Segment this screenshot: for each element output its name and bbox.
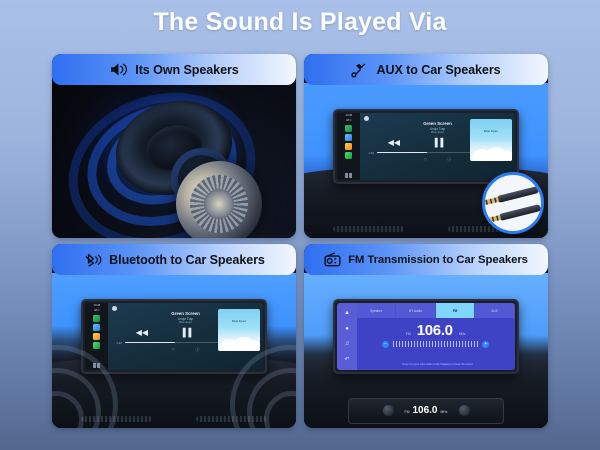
elapsed-time: 1:20	[368, 151, 373, 155]
car-dashboard-bluetooth: 10:38 48 C Green Screen Unqiz Trap	[52, 273, 296, 428]
tab-fm[interactable]: FM	[436, 303, 475, 318]
panel-header-own-speakers: Its Own Speakers	[52, 54, 296, 85]
air-vent-right	[196, 416, 267, 422]
panel-header-aux: AUX to Car Speakers	[304, 54, 548, 85]
status-sub: 48 C	[346, 120, 351, 123]
frequency-value: 106.0	[417, 323, 453, 338]
app-grid-icon[interactable]	[93, 363, 101, 368]
album-art-label: Blue Eyes	[470, 129, 512, 133]
more-button[interactable]: ⓘ	[195, 347, 199, 353]
bluetooth-waves-icon	[83, 252, 102, 268]
radio-frequency-unit: MHz	[440, 410, 447, 414]
previous-button[interactable]: ◀◀	[388, 139, 400, 147]
back-icon[interactable]: ↶	[345, 357, 350, 363]
album-artwork: Blue Eyes	[470, 119, 512, 160]
tab-bt-audio[interactable]: BT Audio	[396, 303, 435, 318]
now-playing-panel: Green Screen Unqiz Trap Blue Eyes ◀◀ ▐▐ …	[360, 113, 514, 179]
panel-aux[interactable]: AUX to Car Speakers 10:38 48 C	[304, 54, 548, 238]
aux-plug-icon	[351, 62, 369, 78]
panel-bluetooth[interactable]: Bluetooth to Car Speakers 10:38 48 C	[52, 244, 296, 428]
status-time: 10:38	[94, 305, 101, 308]
panel-body-fm: ▲ ● ♫ ↶ Speaker BT Audio FM AUX F	[304, 273, 548, 428]
frequency-display: FM 106.0 MHz	[357, 323, 515, 338]
radio-knob-left[interactable]	[383, 405, 394, 416]
head-unit-screen[interactable]: 10:38 48 C Green Screen Unqiz Trap	[337, 113, 514, 179]
fm-instruction-note: Tune in to your car's radio to this freq…	[366, 363, 508, 366]
page-title: The Sound Is Played Via	[0, 8, 600, 37]
app-icon-messages[interactable]	[345, 152, 352, 159]
carplay-sidebar[interactable]: 10:38 48 C	[337, 113, 360, 179]
panel-header-label: Its Own Speakers	[135, 63, 238, 77]
panel-header-label: FM Transmission to Car Speakers	[348, 254, 528, 266]
panel-own-speakers[interactable]: Its Own Speakers	[52, 54, 296, 238]
like-button[interactable]: ♡	[424, 157, 428, 163]
head-unit-screen[interactable]: 10:38 48 C Green Screen Unqiz Trap	[85, 303, 262, 369]
app-grid-icon[interactable]	[345, 173, 353, 178]
car-head-unit-aux[interactable]: 10:38 48 C Green Screen Unqiz Trap	[333, 109, 518, 183]
car-head-unit-fm[interactable]: ▲ ● ♫ ↶ Speaker BT Audio FM AUX F	[333, 299, 518, 373]
volume-icon[interactable]: ♫	[345, 341, 350, 347]
car-dashboard-fm: ▲ ● ♫ ↶ Speaker BT Audio FM AUX F	[304, 273, 548, 428]
air-vent-left	[333, 226, 404, 232]
panel-body-own-speakers	[52, 83, 296, 238]
radio-band-label: FM	[405, 410, 410, 414]
app-icon-music[interactable]	[93, 333, 100, 340]
loudspeaker-illustration	[52, 83, 296, 238]
panel-header-label: Bluetooth to Car Speakers	[109, 253, 265, 267]
home-icon[interactable]: ▲	[344, 310, 350, 316]
speaker-volume-icon	[109, 62, 128, 77]
panel-fm[interactable]: FM Transmission to Car Speakers ▲ ● ♫ ↶ …	[304, 244, 548, 428]
panel-header-fm: FM Transmission to Car Speakers	[304, 244, 548, 275]
app-icon-maps[interactable]	[345, 134, 352, 141]
radio-frequency-value: 106.0	[412, 406, 437, 416]
previous-button[interactable]: ◀◀	[136, 329, 148, 337]
play-pause-button[interactable]: ▐▐	[432, 139, 443, 147]
app-icon-phone[interactable]	[93, 315, 100, 322]
panel-body-bluetooth: 10:38 48 C Green Screen Unqiz Trap	[52, 273, 296, 428]
settings-icon[interactable]: ●	[345, 326, 349, 332]
frequency-decrease-button[interactable]: −	[382, 341, 389, 348]
frequency-unit: MHz	[459, 332, 466, 336]
carplay-sidebar[interactable]: 10:38 48 C	[85, 303, 108, 369]
fm-tuner-panel[interactable]: Speaker BT Audio FM AUX FM 106.0 MHz −	[357, 303, 515, 369]
car-dashboard-aux: 10:38 48 C Green Screen Unqiz Trap	[304, 83, 548, 238]
status-sub: 48 C	[94, 310, 99, 313]
tuning-row[interactable]: − +	[357, 341, 515, 348]
elapsed-time: 1:20	[116, 341, 121, 345]
play-pause-button[interactable]: ▐▐	[180, 329, 191, 337]
car-head-unit-bluetooth[interactable]: 10:38 48 C Green Screen Unqiz Trap	[81, 299, 266, 373]
like-button[interactable]: ♡	[172, 347, 176, 353]
app-icon-phone[interactable]	[345, 125, 352, 132]
aux-cable-callout	[482, 172, 544, 234]
tab-aux[interactable]: AUX	[475, 303, 514, 318]
app-icon-music[interactable]	[345, 143, 352, 150]
more-button[interactable]: ⓘ	[447, 157, 451, 163]
radio-icon	[324, 252, 341, 267]
radio-display: FM 106.0 MHz	[399, 405, 454, 417]
app-icon-maps[interactable]	[93, 324, 100, 331]
radio-knob-right[interactable]	[458, 405, 469, 416]
fm-sidebar[interactable]: ▲ ● ♫ ↶	[337, 303, 357, 369]
panel-body-aux: 10:38 48 C Green Screen Unqiz Trap	[304, 83, 548, 238]
tab-speaker[interactable]: Speaker	[357, 303, 396, 318]
album-art-label: Blue Eyes	[218, 319, 260, 323]
head-unit-screen[interactable]: ▲ ● ♫ ↶ Speaker BT Audio FM AUX F	[337, 303, 514, 369]
frequency-dial-slider[interactable]	[393, 341, 478, 347]
source-tabs[interactable]: Speaker BT Audio FM AUX	[357, 303, 515, 318]
panel-header-label: AUX to Car Speakers	[376, 63, 500, 77]
now-playing-panel: Green Screen Unqiz Trap Blue Eyes ◀◀ ▐▐ …	[108, 303, 262, 369]
app-icon-messages[interactable]	[93, 342, 100, 349]
car-radio-receiver[interactable]: FM 106.0 MHz	[348, 398, 504, 424]
air-vent-left	[81, 416, 152, 422]
status-time: 10:38	[346, 115, 353, 118]
album-artwork: Blue Eyes	[218, 309, 260, 350]
band-label: FM	[406, 332, 411, 336]
frequency-increase-button[interactable]: +	[482, 341, 489, 348]
panel-header-bluetooth: Bluetooth to Car Speakers	[52, 244, 296, 275]
